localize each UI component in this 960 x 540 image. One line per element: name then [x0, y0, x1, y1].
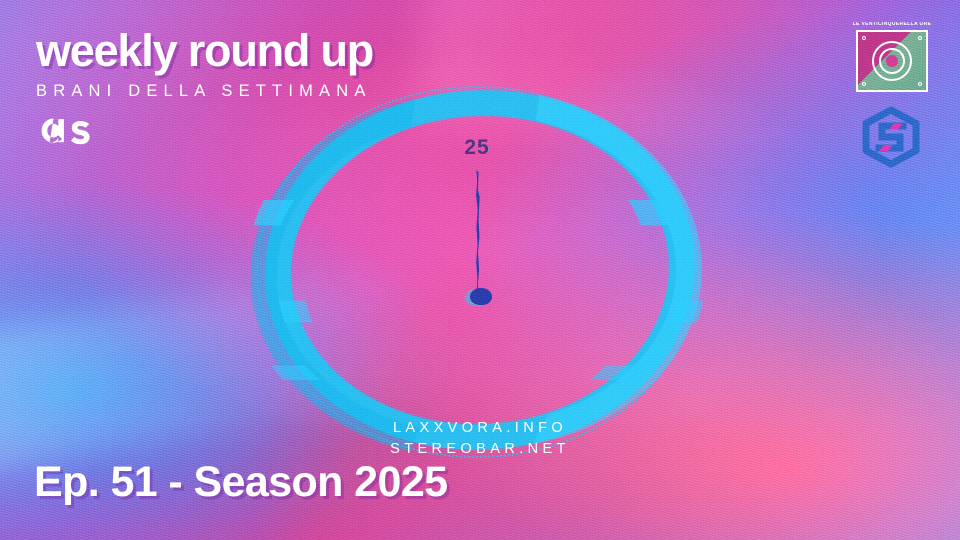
url-primary: LAXXVORA.INFO	[0, 418, 960, 439]
headline-block: weekly round up BRANI DELLA SETTIMANA	[36, 28, 373, 148]
page-title: weekly round up	[36, 28, 373, 73]
screw-icon	[862, 82, 866, 86]
page-subtitle: BRANI DELLA SETTIMANA	[36, 83, 373, 100]
badge-label: LE VENTICINQUERELLA ORE	[848, 22, 936, 27]
screw-icon	[862, 36, 866, 40]
stereobar-hex-s-logo	[858, 106, 924, 168]
episode-title: Ep. 51 - Season 2025	[34, 461, 447, 504]
lastfm-logo	[36, 114, 110, 148]
speaker-cabinet-icon	[856, 30, 928, 92]
screw-icon	[918, 82, 922, 86]
speaker-dustcap	[886, 55, 898, 67]
poster-canvas: 25 weekly round up BRANI DELLA SETTIMANA…	[0, 0, 960, 540]
url-block: LAXXVORA.INFO STEREOBAR.NET	[0, 418, 960, 460]
clock-number: 25	[464, 136, 489, 160]
speaker-cone-inner	[879, 48, 905, 74]
clock-hand-center	[470, 288, 492, 305]
url-secondary: STEREOBAR.NET	[0, 439, 960, 460]
speaker-cone-icon	[872, 41, 912, 81]
corner-badge: LE VENTICINQUERELLA ORE	[848, 22, 936, 92]
screw-icon	[918, 36, 922, 40]
